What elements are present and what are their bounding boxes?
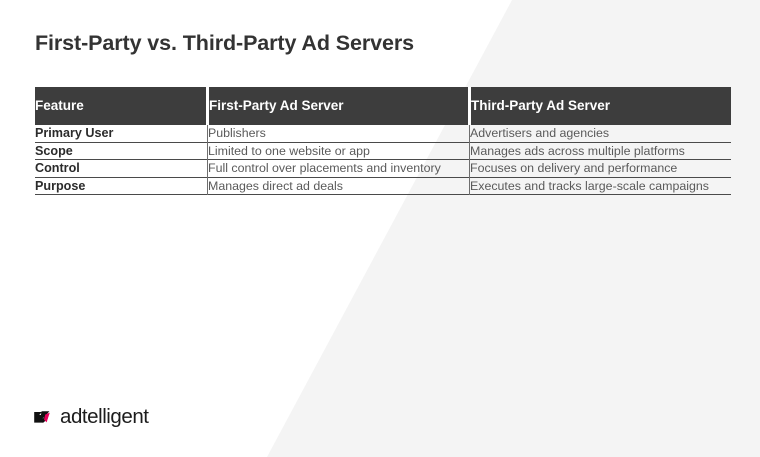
cell-first-party: Full control over placements and invento… [208,160,470,178]
cell-third-party: Manages ads across multiple platforms [470,142,732,160]
table-row: Control Full control over placements and… [35,160,731,178]
table-row: Scope Limited to one website or app Mana… [35,142,731,160]
column-header-third-party: Third-Party Ad Server [470,87,732,125]
diagonal-band-decoration [0,0,760,457]
cell-feature: Primary User [35,125,208,142]
infographic-canvas: First-Party vs. Third-Party Ad Servers F… [0,0,760,457]
cell-feature: Scope [35,142,208,160]
cell-third-party: Focuses on delivery and performance [470,160,732,178]
cell-first-party: Publishers [208,125,470,142]
cell-feature: Control [35,160,208,178]
table-row: Purpose Manages direct ad deals Executes… [35,177,731,195]
table-row: Primary User Publishers Advertisers and … [35,125,731,142]
table-header: Feature First-Party Ad Server Third-Part… [35,87,731,125]
cell-feature: Purpose [35,177,208,195]
table-body: Primary User Publishers Advertisers and … [35,125,731,195]
page-title: First-Party vs. Third-Party Ad Servers [35,31,414,56]
column-header-feature: Feature [35,87,208,125]
logo-wordmark: adtelligent [60,407,149,427]
cell-third-party: Executes and tracks large-scale campaign… [470,177,732,195]
column-header-first-party: First-Party Ad Server [208,87,470,125]
brand-logo: adtelligent [33,405,149,429]
comparison-table: Feature First-Party Ad Server Third-Part… [35,87,731,195]
cell-first-party: Limited to one website or app [208,142,470,160]
adtelligent-arrow-icon [33,408,57,426]
cell-third-party: Advertisers and agencies [470,125,732,142]
table-header-row: Feature First-Party Ad Server Third-Part… [35,87,731,125]
cell-first-party: Manages direct ad deals [208,177,470,195]
